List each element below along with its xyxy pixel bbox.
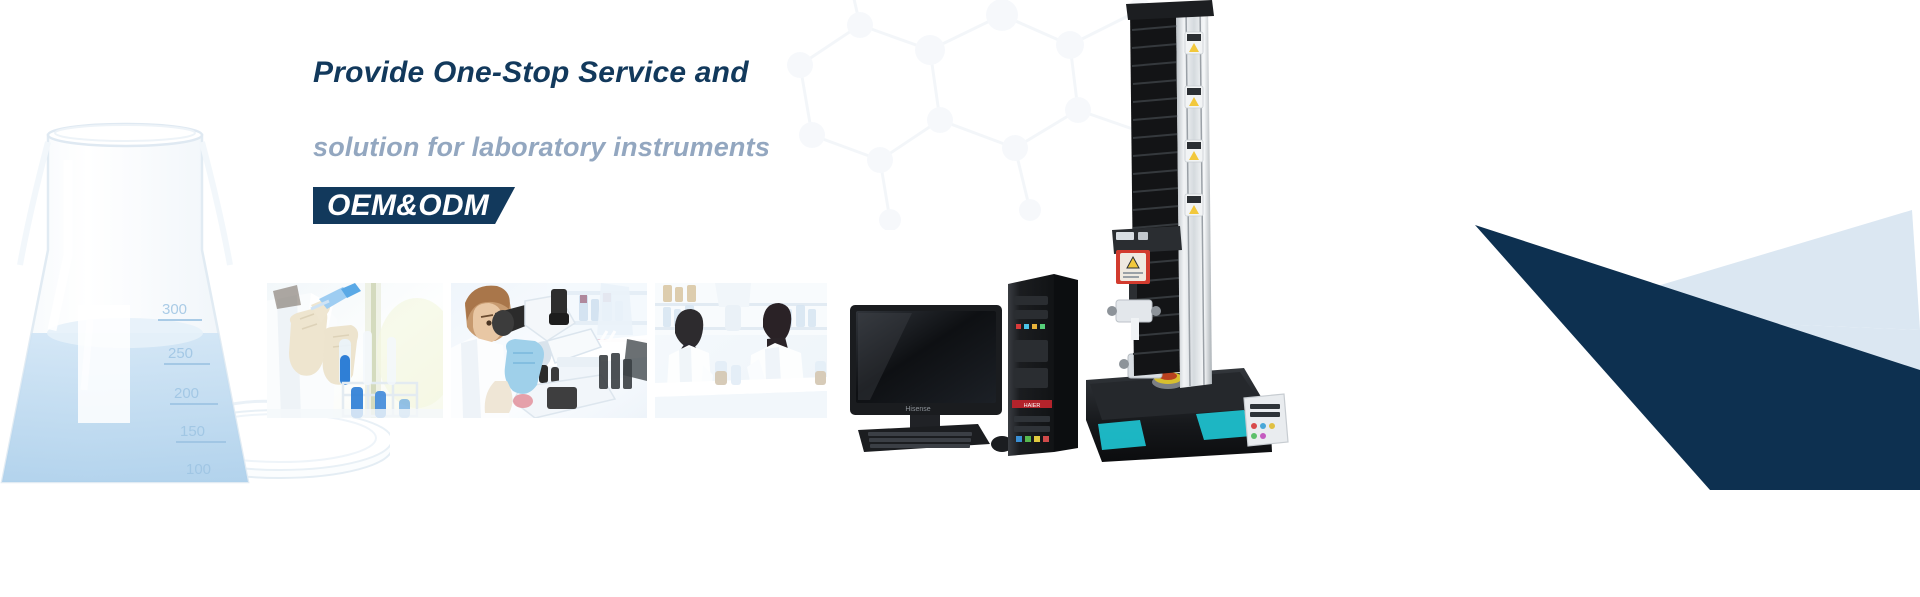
- pale-blue-arrow-shape: [1560, 210, 1920, 330]
- svg-text:100: 100: [186, 461, 211, 478]
- keyboard: [858, 424, 1013, 452]
- photo-pipetting: [267, 283, 443, 418]
- headline-line-2: solution for laboratory instruments: [313, 134, 1073, 161]
- erlenmeyer-flask: 300 250 200 150 100: [0, 124, 280, 490]
- photo-strip: [267, 283, 827, 418]
- oem-odm-badge-label: OEM&ODM: [327, 187, 489, 224]
- headline-block: Provide One-Stop Service and solution fo…: [313, 58, 1073, 224]
- oem-odm-badge: OEM&ODM: [313, 187, 515, 224]
- svg-text:200: 200: [174, 385, 199, 402]
- mouse: [991, 436, 1013, 452]
- pc-tower: HAIER: [1008, 274, 1078, 456]
- warning-label-icon: [1185, 32, 1203, 216]
- photo-microscope: [451, 283, 647, 418]
- navy-arrow-shape: [1475, 225, 1920, 490]
- svg-text:150: 150: [180, 423, 205, 440]
- hero-banner: 300 250 200 150 100 Provide One-Stop Ser…: [0, 0, 1920, 597]
- svg-text:250: 250: [168, 345, 193, 362]
- headline-line-1: Provide One-Stop Service and: [313, 58, 1073, 88]
- corner-arrow-decor: [1190, 130, 1920, 490]
- desktop-monitor: Hisense: [850, 305, 1002, 440]
- svg-text:HAIER: HAIER: [1024, 403, 1041, 409]
- svg-text:300: 300: [162, 301, 187, 318]
- pale-blue-arrow-shape-2: [1560, 315, 1920, 425]
- svg-text:Hisense: Hisense: [905, 406, 930, 413]
- universal-tensile-testing-machine: [1086, 0, 1288, 462]
- emergency-stop-button: [1152, 372, 1184, 389]
- photo-lab-bench: [655, 283, 827, 418]
- load-cell: [1116, 250, 1150, 284]
